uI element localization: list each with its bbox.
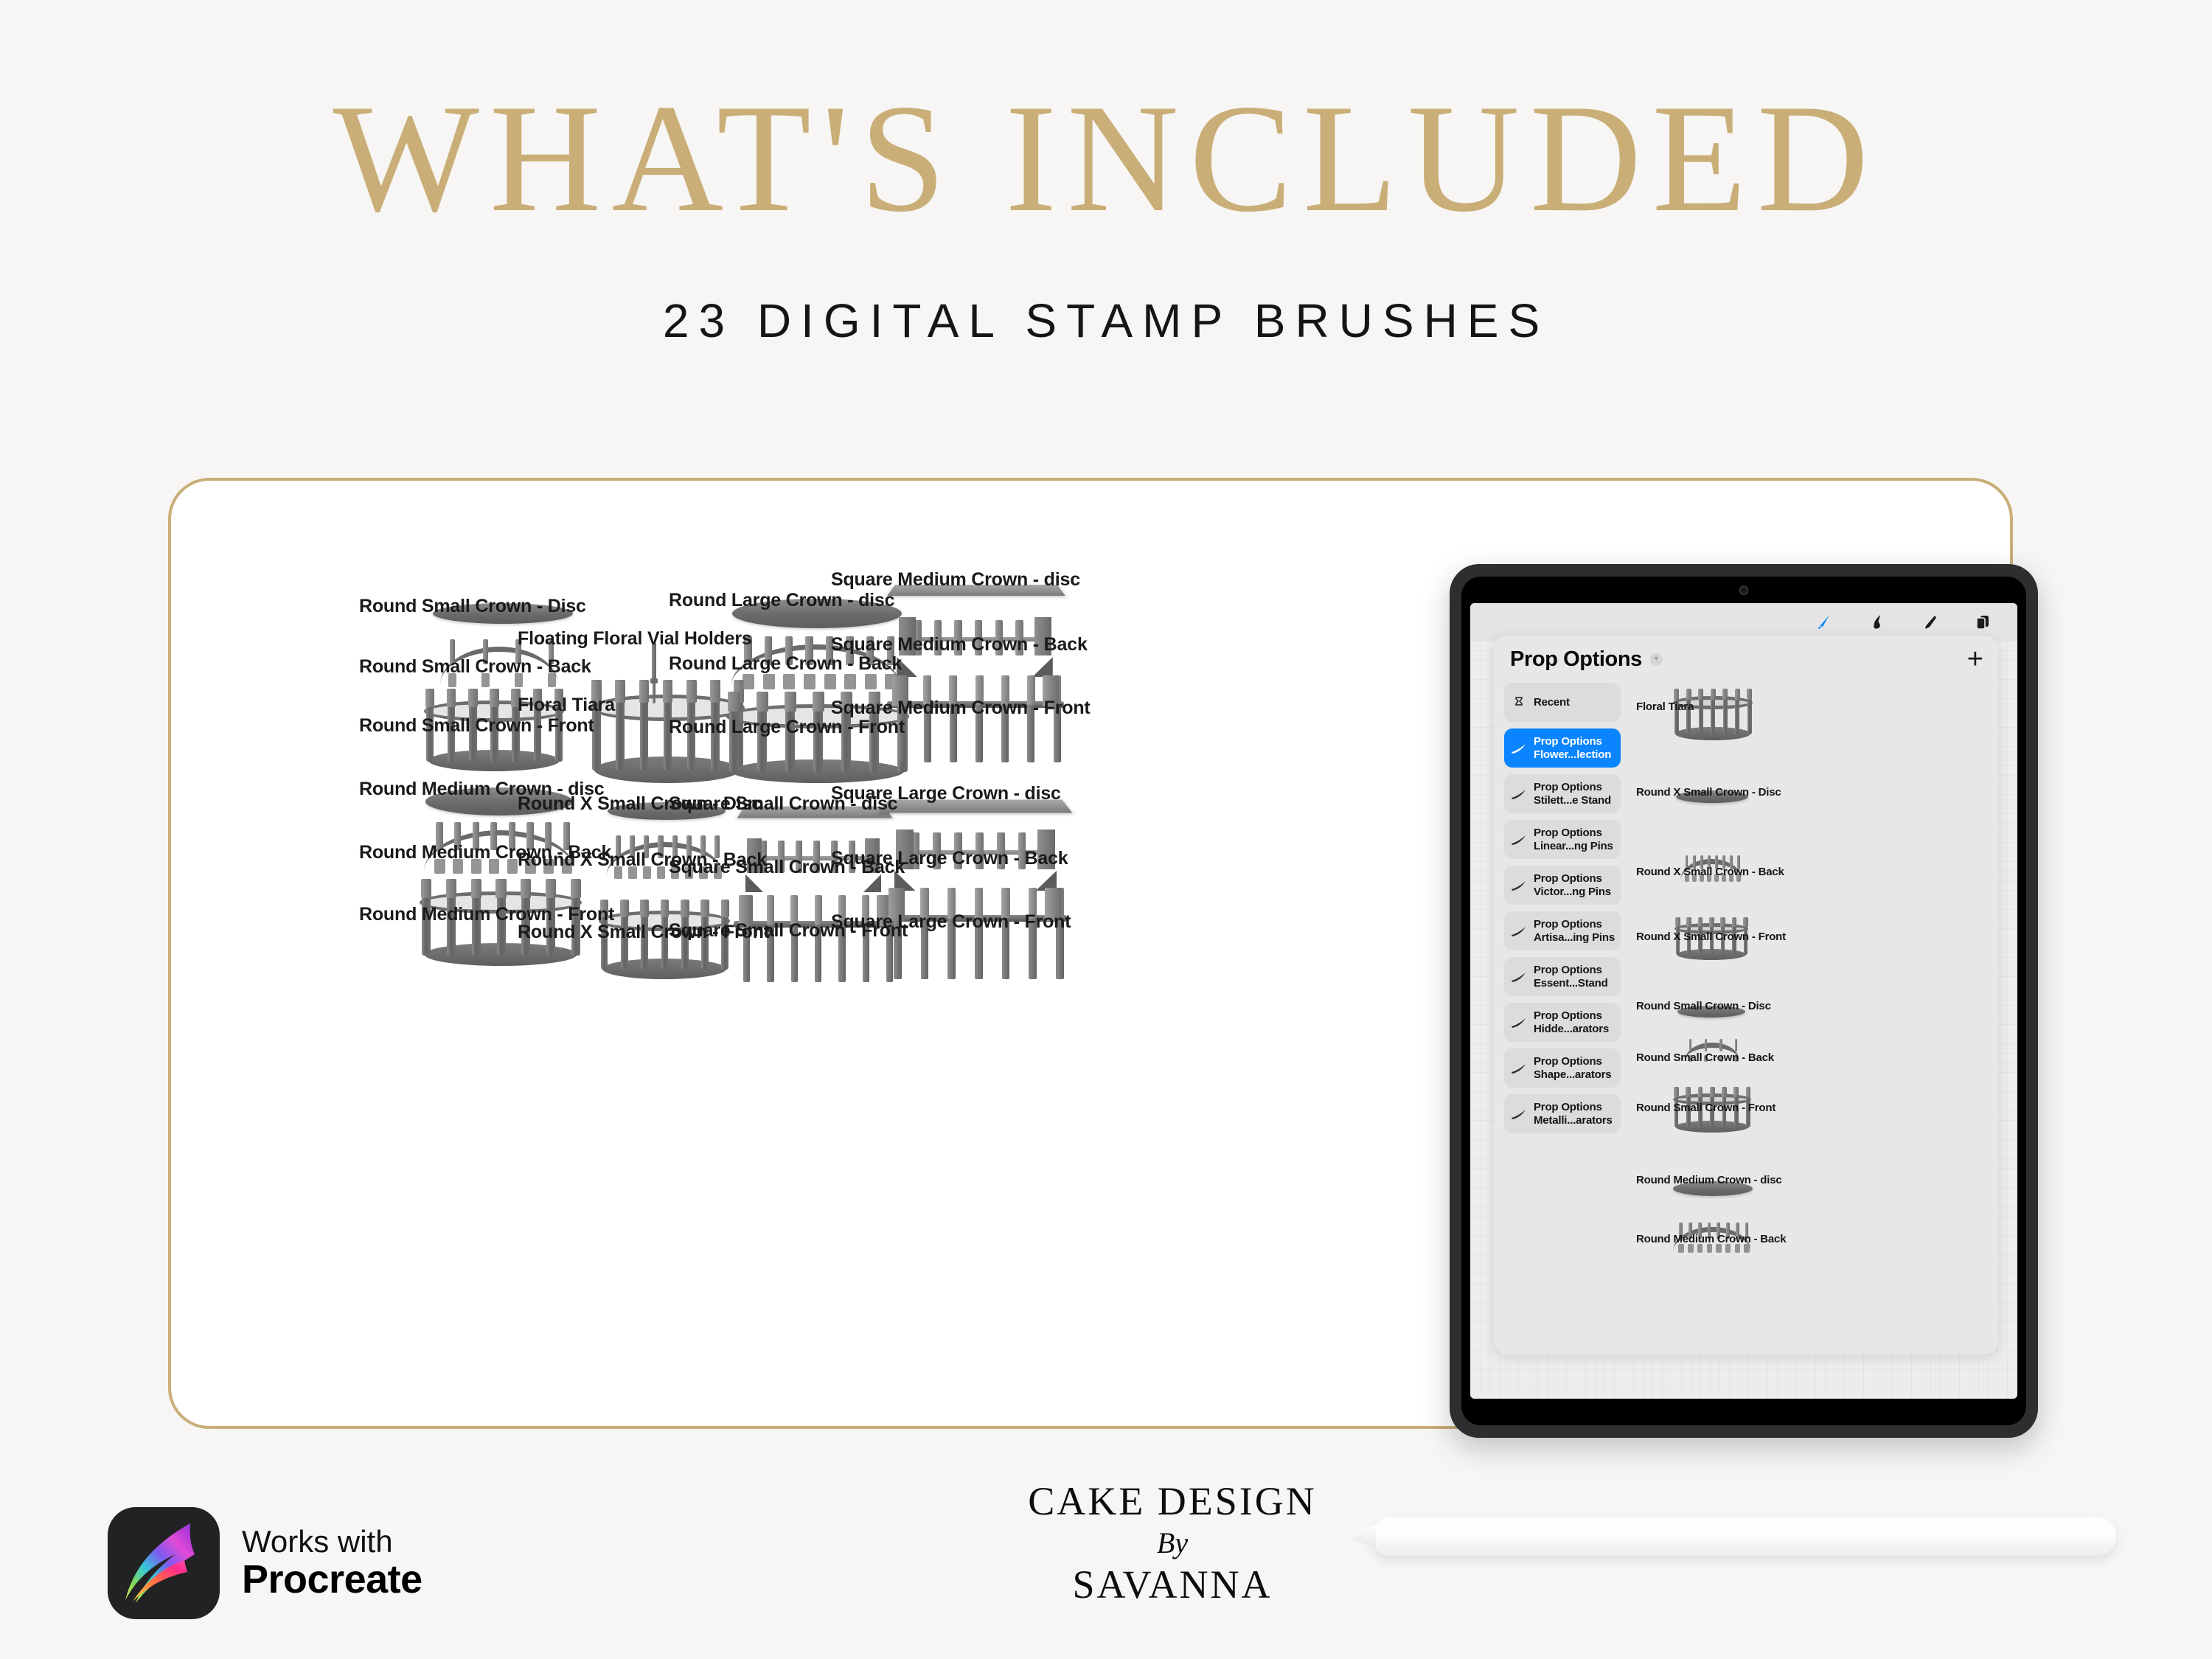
- brush-icon: [1511, 788, 1527, 800]
- brand-signature: CAKE DESIGN By SAVANNA: [981, 1478, 1364, 1607]
- brush-label: Square Medium Crown - Front: [831, 698, 1091, 719]
- brand-line-2: SAVANNA: [981, 1562, 1364, 1607]
- panel-header: Prop Options ▾ +: [1494, 636, 1998, 683]
- prop-options-panel: Prop Options ▾ + RecentProp OptionsFlowe…: [1494, 636, 1998, 1354]
- brush-set-label: Prop OptionsVictor...ng Pins: [1534, 872, 1611, 898]
- brand-line-1: CAKE DESIGN: [981, 1478, 1364, 1524]
- sq-front-art: [883, 888, 1067, 979]
- works-with-label: Works with: [242, 1526, 422, 1559]
- brush-label: Round Small Crown - Disc: [359, 596, 586, 617]
- brush-icon: [1511, 1017, 1527, 1029]
- brush-preview-label: Round Medium Crown - disc: [1636, 1174, 1782, 1186]
- brush-icon: [1511, 1108, 1527, 1120]
- brush-set-label: Prop OptionsArtisa...ing Pins: [1534, 918, 1615, 944]
- tiara-art: [1673, 689, 1753, 740]
- brush-icon: [1511, 834, 1527, 846]
- ipad-screen: Prop Options ▾ + RecentProp OptionsFlowe…: [1470, 603, 2017, 1399]
- brush-set-item-9[interactable]: Prop OptionsMetalli...arators: [1504, 1094, 1621, 1133]
- brush-set-label: Prop OptionsStilett...e Stand: [1534, 781, 1611, 807]
- panel-body: RecentProp OptionsFlower...lectionProp O…: [1494, 683, 1998, 1354]
- brush-preview-list[interactable]: Floral TiaraRound X Small Crown - DiscRo…: [1627, 683, 1998, 1354]
- layers-icon[interactable]: [1973, 613, 1992, 632]
- brush-label: Square Large Crown - Front: [831, 911, 1071, 933]
- brush-label: Square Large Crown - disc: [831, 783, 1061, 804]
- brush-icon: [1511, 742, 1527, 754]
- brush-label: Round Large Crown - disc: [669, 590, 894, 611]
- sq-front-art: [887, 675, 1064, 762]
- brush-set-label: Prop OptionsFlower...lection: [1534, 735, 1611, 761]
- brush-set-item-2[interactable]: Prop OptionsStilett...e Stand: [1504, 774, 1621, 813]
- panel-title: Prop Options: [1510, 647, 1642, 672]
- brush-label: Round Large Crown - Front: [669, 717, 905, 738]
- brand-by-label: By: [981, 1526, 1364, 1560]
- brush-icon: [1511, 880, 1527, 891]
- brush-set-list[interactable]: RecentProp OptionsFlower...lectionProp O…: [1494, 683, 1627, 1354]
- procreate-badge-text: Works with Procreate: [242, 1526, 422, 1601]
- brush-preview-label: Round Small Crown - Front: [1636, 1102, 1775, 1114]
- brush-label: Round Small Crown - Back: [359, 656, 591, 678]
- brush-preview-label: Round X Small Crown - Front: [1636, 931, 1786, 943]
- brush-set-label: Recent: [1534, 696, 1570, 709]
- brush-preview-label: Round X Small Crown - Disc: [1636, 786, 1781, 799]
- page-header: WHAT'S INCLUDED 23 DIGITAL STAMP BRUSHES: [0, 0, 2212, 398]
- page-subtitle: 23 DIGITAL STAMP BRUSHES: [0, 293, 2212, 348]
- front-camera-icon: [1739, 585, 1749, 595]
- brush-set-item-0[interactable]: Recent: [1504, 683, 1621, 722]
- brush-label: Round Small Crown - Front: [359, 715, 594, 737]
- brush-set-label: Prop OptionsEssent...Stand: [1534, 964, 1608, 990]
- brush-label: Square Medium Crown - Back: [831, 634, 1088, 655]
- brush-icon: [1511, 1062, 1527, 1074]
- brush-set-label: Prop OptionsMetalli...arators: [1534, 1101, 1613, 1127]
- brush-item: Square Large Crown - Front: [831, 481, 1126, 481]
- ipad-bezel: Prop Options ▾ + RecentProp OptionsFlowe…: [1461, 577, 2026, 1425]
- procreate-logo-icon: [108, 1507, 220, 1619]
- works-with-procreate-badge: Works with Procreate: [108, 1507, 422, 1619]
- procreate-name-label: Procreate: [242, 1559, 422, 1601]
- brush-set-item-7[interactable]: Prop OptionsHidde...arators: [1504, 1003, 1621, 1042]
- brush-preview-label: Floral Tiara: [1636, 700, 1694, 713]
- brush-label: Square Large Crown - Back: [831, 848, 1068, 869]
- page-title: WHAT'S INCLUDED: [0, 81, 2212, 236]
- brush-label: Floral Tiara: [518, 695, 615, 716]
- brush-label: Floating Floral Vial Holders: [518, 628, 752, 650]
- brush-label: Square Medium Crown - disc: [831, 569, 1080, 591]
- brush-set-item-6[interactable]: Prop OptionsEssent...Stand: [1504, 957, 1621, 996]
- hourglass-icon: [1511, 697, 1527, 709]
- brush-icon: [1511, 971, 1527, 983]
- brush-set-label: Prop OptionsLinear...ng Pins: [1534, 827, 1613, 852]
- brush-preview-label: Round Medium Crown - Back: [1636, 1233, 1786, 1245]
- brush-icon: [1511, 925, 1527, 937]
- brush-preview-label: Round Small Crown - Disc: [1636, 1000, 1771, 1012]
- brush-set-item-4[interactable]: Prop OptionsVictor...ng Pins: [1504, 866, 1621, 905]
- ipad-device-mockup: Prop Options ▾ + RecentProp OptionsFlowe…: [1450, 564, 2038, 1438]
- brush-label: Round Large Crown - Back: [669, 653, 902, 675]
- brush-set-label: Prop OptionsShape...arators: [1534, 1055, 1611, 1081]
- brush-preview-label: Round X Small Crown - Back: [1636, 866, 1784, 878]
- apple-pencil: [1371, 1517, 2116, 1556]
- add-brush-button[interactable]: +: [1967, 650, 1983, 669]
- chevron-down-icon[interactable]: ▾: [1650, 653, 1663, 666]
- brush-set-item-1[interactable]: Prop OptionsFlower...lection: [1504, 728, 1621, 768]
- paintbrush-icon[interactable]: [1814, 613, 1833, 632]
- brush-set-item-5[interactable]: Prop OptionsArtisa...ing Pins: [1504, 911, 1621, 950]
- smudge-icon[interactable]: [1867, 613, 1886, 632]
- eraser-icon[interactable]: [1920, 613, 1939, 632]
- brush-set-item-3[interactable]: Prop OptionsLinear...ng Pins: [1504, 820, 1621, 859]
- brush-set-item-8[interactable]: Prop OptionsShape...arators: [1504, 1048, 1621, 1088]
- brush-set-label: Prop OptionsHidde...arators: [1534, 1009, 1609, 1035]
- brush-preview-label: Round Small Crown - Back: [1636, 1051, 1774, 1064]
